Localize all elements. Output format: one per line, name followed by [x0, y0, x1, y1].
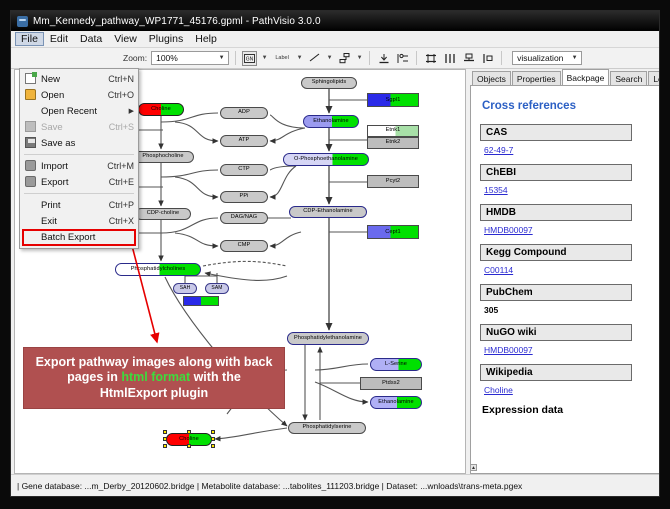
expression-data-title: Expression data	[482, 404, 660, 416]
node-atp[interactable]: ATP	[220, 135, 268, 147]
visualization-combo[interactable]: visualization ▼	[512, 51, 582, 65]
annotation-line-2: pages in html format with the	[67, 370, 241, 386]
line-dropdown-arrow[interactable]: ▼	[326, 55, 333, 61]
menu-data[interactable]: Data	[74, 32, 108, 46]
save-icon	[22, 121, 38, 134]
annotation-line-1: Export pathway images along with back	[36, 355, 273, 371]
menu-item-accel: Ctrl+O	[108, 90, 134, 100]
node-phosphatidylserine[interactable]: Phosphatidylserine	[288, 422, 366, 434]
node-label: Ethanolamine	[304, 119, 358, 125]
xref-header: CAS	[480, 124, 632, 141]
node-l-serine[interactable]: L-Serine	[370, 358, 422, 371]
resize-handle-sw[interactable]	[163, 444, 167, 448]
menu-item-accel: Ctrl+N	[108, 74, 134, 84]
align-top-icon[interactable]	[376, 51, 391, 66]
node-sam[interactable]: SAM	[205, 283, 229, 294]
annotation-highlight: html format	[121, 370, 190, 384]
xref-value: HMDB00097	[484, 345, 660, 355]
menu-item-label: Open	[38, 90, 108, 101]
menu-item-import[interactable]: Import Ctrl+M	[20, 158, 138, 174]
annotation-line-2-pre: pages in	[67, 370, 121, 384]
menu-item-accel: Ctrl+S	[109, 122, 134, 132]
title-bar: Mm_Kennedy_pathway_WP1771_45176.gpml - P…	[11, 11, 659, 31]
node-ctp[interactable]: CTP	[220, 164, 268, 176]
xref-section-wikipedia: Wikipedia Choline	[480, 364, 660, 395]
save-as-icon	[22, 137, 38, 150]
node-label: Sphingolipids	[312, 80, 347, 86]
xref-link[interactable]: Choline	[484, 385, 513, 395]
tab-search[interactable]: Search	[610, 71, 647, 85]
file-menu-dropdown[interactable]: New Ctrl+N Open Ctrl+O Open Recent ▶ Sav…	[19, 68, 139, 249]
node-phosphocholine[interactable]: Phosphocholine	[132, 151, 194, 163]
toolbar: Zoom: 100% ▼ GN ▼ Label ▼ ▼ ▼	[11, 48, 659, 69]
node-sah[interactable]: SAH	[173, 283, 197, 294]
menu-file[interactable]: File	[15, 32, 44, 46]
xref-value: 15354	[484, 185, 660, 195]
xref-header: Wikipedia	[480, 364, 632, 381]
cross-references-title: Cross references	[482, 100, 660, 112]
resize-handle-s[interactable]	[187, 444, 191, 448]
node-label: Phosphatidylethanolamine	[294, 336, 362, 342]
node-label: Phosphocholine	[142, 154, 183, 160]
xref-value: 305	[484, 305, 660, 315]
zoom-label: Zoom:	[123, 53, 147, 63]
xref-section-chebi: ChEBI 15354	[480, 164, 660, 195]
menu-item-label: Batch Export	[38, 232, 130, 243]
import-icon	[22, 160, 38, 173]
node-ptdss2[interactable]: Ptdss2	[360, 377, 422, 390]
toolbar-separator-4	[501, 51, 502, 65]
menu-separator-1	[24, 154, 134, 155]
node-label: Ptdss2	[382, 381, 400, 387]
right-panel: Objects Properties Backpage Search Legen…	[470, 69, 660, 474]
datanode-tool-icon[interactable]: GN	[242, 51, 257, 66]
chevron-down-icon-2: ▼	[570, 55, 579, 61]
menu-edit[interactable]: Edit	[44, 32, 74, 46]
node-label: ATP	[239, 138, 250, 144]
menu-item-label: Print	[38, 200, 109, 211]
node-phosphatidylcholines[interactable]: Phosphatidylcholines	[115, 263, 201, 276]
node-label: Cept1	[368, 230, 418, 236]
node-o-phosphoethanolamine[interactable]: O-Phosphoethanolamine	[283, 153, 369, 166]
node-label: ADP	[238, 110, 250, 116]
tab-backpage[interactable]: Backpage	[562, 69, 610, 85]
menu-item-export[interactable]: Export Ctrl+E	[20, 174, 138, 190]
tab-legend[interactable]: Legend	[648, 71, 660, 85]
node-label: Ethanolamine	[371, 400, 421, 406]
menu-item-label: Save	[38, 122, 109, 133]
menu-item-accel: Ctrl+X	[109, 216, 134, 226]
resize-handle-e[interactable]	[211, 437, 215, 441]
tab-objects[interactable]: Objects	[472, 71, 511, 85]
menu-item-open[interactable]: Open Ctrl+O	[20, 87, 138, 103]
node-label: DAG/NAG	[231, 215, 258, 221]
menu-bar: File Edit Data View Plugins Help	[11, 31, 659, 48]
menu-item-save-as[interactable]: Save as	[20, 135, 138, 151]
menu-item-accel: Ctrl+E	[109, 177, 134, 187]
node-label: PPi	[239, 194, 248, 200]
open-folder-icon	[22, 89, 38, 102]
node-label: L-Serine	[371, 362, 421, 368]
node-cdp-choline[interactable]: CDP-choline	[135, 208, 191, 220]
node-etnk1[interactable]: Etnk1	[367, 125, 419, 137]
node-label: CMP	[238, 243, 251, 249]
xref-value: HMDB00097	[484, 225, 660, 235]
visualization-value: visualization	[517, 53, 563, 63]
tab-properties[interactable]: Properties	[512, 71, 561, 85]
resize-handle-nw[interactable]	[163, 430, 167, 434]
node-choline-top[interactable]: Choline	[138, 103, 184, 116]
menu-view[interactable]: View	[108, 32, 143, 46]
xref-link[interactable]: HMDB00097	[484, 225, 533, 235]
node-label: Phosphatidylserine	[302, 425, 351, 431]
node-cept1[interactable]: Cept1	[367, 225, 419, 239]
xref-header: NuGO wiki	[480, 324, 632, 341]
node-label: Pcyt2	[386, 179, 401, 185]
xref-header: HMDB	[480, 204, 632, 221]
menu-item-label: Open Recent	[38, 106, 129, 117]
node-adp[interactable]: ADP	[220, 107, 268, 119]
resize-handle-se[interactable]	[211, 444, 215, 448]
pathvisio-icon	[17, 16, 28, 27]
node-label: Phosphatidylcholines	[116, 267, 200, 273]
node-label: SAM	[211, 286, 222, 291]
label-tool-text: Label	[275, 55, 288, 61]
menu-item-batch-export[interactable]: Batch Export	[22, 229, 136, 246]
menu-item-accel: Ctrl+P	[109, 200, 134, 210]
xref-section-cas: CAS 62-49-7	[480, 124, 660, 155]
node-phosphatidylethanolamine[interactable]: Phosphatidylethanolamine	[287, 332, 369, 345]
align-center-icon[interactable]	[423, 51, 438, 66]
menu-item-accel: Ctrl+M	[107, 161, 134, 171]
window-title: Mm_Kennedy_pathway_WP1771_45176.gpml - P…	[33, 16, 321, 27]
xref-section-pubchem: PubChem 305	[480, 284, 660, 315]
node-chka-gene-strip[interactable]	[183, 296, 219, 306]
node-label: Choline	[139, 107, 183, 113]
node-label: CDP-choline	[147, 211, 180, 217]
node-cmp[interactable]: CMP	[220, 240, 268, 252]
annotation-line-2-post: with the	[190, 370, 241, 384]
selected-node-choline[interactable]: Choline	[166, 433, 212, 446]
menu-item-label: Exit	[38, 216, 109, 227]
xref-link[interactable]: HMDB00097	[484, 345, 533, 355]
new-file-icon	[22, 73, 38, 86]
node-label: Choline	[167, 437, 211, 443]
node-label: Etnk1	[368, 128, 418, 134]
stack-icon[interactable]	[461, 51, 476, 66]
xref-section-hmdb: HMDB HMDB00097	[480, 204, 660, 235]
toolbar-separator-3	[416, 51, 417, 65]
align-width-icon[interactable]	[442, 51, 457, 66]
panel-scroll-button[interactable]: ▲	[470, 464, 477, 471]
node-sphingolipids[interactable]: Sphingolipids	[301, 77, 357, 89]
menu-item-save: Save Ctrl+S	[20, 119, 138, 135]
menu-item-new[interactable]: New Ctrl+N	[20, 71, 138, 87]
toolbar-separator-2	[369, 51, 370, 65]
status-bar: | Gene database: ...m_Derby_20120602.bri…	[11, 474, 659, 496]
xref-value: 62-49-7	[484, 145, 660, 155]
node-label: Sgpl1	[368, 98, 418, 104]
datanode-dropdown-arrow[interactable]: ▼	[261, 55, 268, 61]
resize-handle-ne[interactable]	[211, 430, 215, 434]
export-icon	[22, 176, 38, 189]
node-ethanolamine[interactable]: Ethanolamine	[303, 115, 359, 128]
chevron-right-icon: ▶	[129, 107, 134, 115]
annotation-banner: Export pathway images along with back pa…	[23, 347, 285, 409]
node-etnk2[interactable]: Etnk2	[367, 137, 419, 149]
menu-item-label: New	[38, 74, 108, 85]
screen-background: Mm_Kennedy_pathway_WP1771_45176.gpml - P…	[0, 0, 670, 509]
backpage-content: Cross references CAS 62-49-7 ChEBI 15354…	[470, 85, 660, 474]
node-label: CDP-Ethanolamine	[303, 209, 352, 215]
toolbar-separator	[235, 51, 236, 65]
zoom-combo[interactable]: 100% ▼	[151, 51, 229, 65]
chevron-down-icon: ▼	[217, 55, 226, 61]
node-label: CTP	[238, 167, 250, 173]
menu-separator-2	[24, 193, 134, 194]
xref-header: ChEBI	[480, 164, 632, 181]
panel-tabs: Objects Properties Backpage Search Legen…	[470, 69, 660, 85]
line-tool-icon[interactable]	[307, 51, 322, 66]
group-icon[interactable]	[480, 51, 495, 66]
menu-item-open-recent[interactable]: Open Recent ▶	[20, 103, 138, 119]
node-cdp-ethanolamine[interactable]: CDP-Ethanolamine	[289, 206, 367, 218]
menu-help[interactable]: Help	[189, 32, 223, 46]
xref-section-nugo: NuGO wiki HMDB00097	[480, 324, 660, 355]
node-label: Etnk2	[386, 140, 401, 146]
xref-value: Choline	[484, 385, 660, 395]
node-label: SAH	[180, 286, 191, 291]
menu-plugins[interactable]: Plugins	[143, 32, 189, 46]
interaction-dropdown-arrow[interactable]: ▼	[356, 55, 363, 61]
xref-link[interactable]: 15354	[484, 185, 508, 195]
svg-text:GN: GN	[246, 56, 254, 62]
menu-item-exit[interactable]: Exit Ctrl+X	[20, 213, 138, 229]
node-sgpl1[interactable]: Sgpl1	[367, 93, 419, 107]
node-ppi[interactable]: PPi	[220, 191, 268, 203]
node-pcyt2[interactable]: Pcyt2	[367, 175, 419, 188]
xref-header: PubChem	[480, 284, 632, 301]
label-dropdown-arrow[interactable]: ▼	[296, 55, 303, 61]
xref-section-kegg: Kegg Compound C00114	[480, 244, 660, 275]
status-text: | Gene database: ...m_Derby_20120602.bri…	[17, 481, 522, 491]
xref-link[interactable]: C00114	[484, 265, 513, 275]
menu-item-label: Export	[38, 177, 109, 188]
annotation-line-3: HtmlExport plugin	[100, 386, 208, 402]
node-dag-nag[interactable]: DAG/NAG	[220, 212, 268, 224]
pathvisio-window: Mm_Kennedy_pathway_WP1771_45176.gpml - P…	[10, 10, 660, 497]
menu-item-label: Save as	[38, 138, 134, 149]
interaction-tool-icon[interactable]	[337, 51, 352, 66]
menu-item-label: Import	[38, 161, 107, 172]
menu-item-print[interactable]: Print Ctrl+P	[20, 197, 138, 213]
xref-value: C00114	[484, 265, 660, 275]
align-left-icon[interactable]	[395, 51, 410, 66]
node-ethanolamine-2[interactable]: Ethanolamine	[370, 396, 422, 409]
xref-link[interactable]: 62-49-7	[484, 145, 513, 155]
node-label: O-Phosphoethanolamine	[284, 157, 368, 163]
label-tool-icon[interactable]: Label	[272, 51, 292, 66]
xref-header: Kegg Compound	[480, 244, 632, 261]
resize-handle-n[interactable]	[187, 430, 191, 434]
zoom-value: 100%	[156, 53, 178, 63]
